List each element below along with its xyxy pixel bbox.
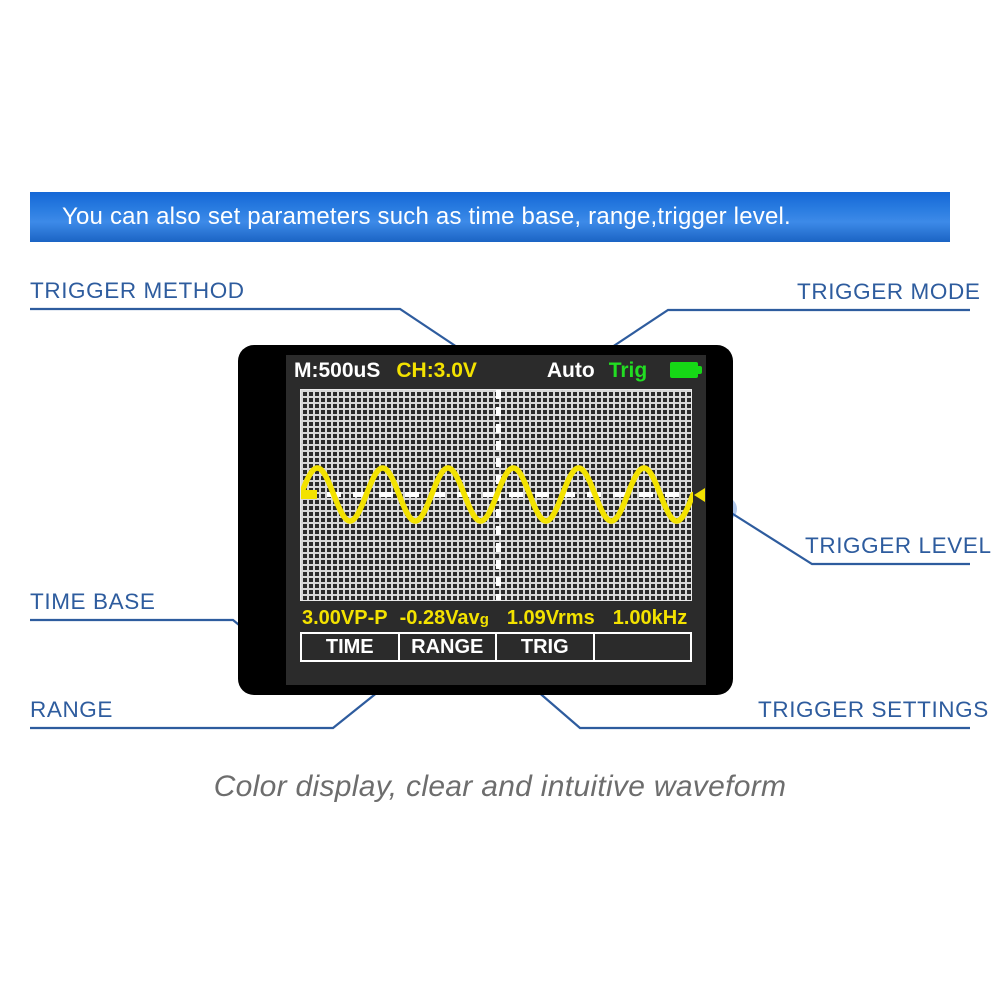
measurement-vavg-value: -0.28Vav [400,607,480,629]
measurement-frequency: 1.00kHz [613,607,688,630]
callout-label-trigger-mode: TRIGGER MODE [797,281,980,304]
graticule [300,389,692,601]
status-channel-range[interactable]: CH:3.0V [396,359,477,383]
menu-item-trig[interactable]: TRIG [497,634,595,660]
measurement-row: 3.00VP-P -0.28Vavg 1.09Vrms 1.00kHz [300,605,692,631]
status-trigger-mode[interactable]: Trig [609,359,648,383]
trigger-level-marker-icon[interactable] [694,488,705,502]
callout-label-trigger-level: TRIGGER LEVEL [805,535,992,558]
measurement-vavg: -0.28Vavg [400,607,489,630]
menu-item-range[interactable]: RANGE [400,634,498,660]
page-root: You can also set parameters such as time… [0,0,1000,1000]
menu-item-time[interactable]: TIME [300,634,400,660]
measurement-vavg-sub: g [480,611,489,628]
oscilloscope-screen: M:500uS CH:3.0V Auto Trig [286,355,706,685]
measurement-vpp: 3.00VP-P [302,607,388,630]
menu-item-blank[interactable] [595,634,693,660]
callout-label-trigger-method: TRIGGER METHOD [30,280,245,303]
status-time-base[interactable]: M:500uS [294,359,380,383]
status-bar: M:500uS CH:3.0V Auto Trig [286,355,706,387]
callout-label-range: RANGE [30,699,113,722]
channel-ground-marker[interactable] [301,490,317,499]
oscilloscope-device: M:500uS CH:3.0V Auto Trig [238,345,733,695]
caption: Color display, clear and intuitive wavef… [0,770,1000,804]
status-trigger-method[interactable]: Auto [547,359,595,383]
softkey-menu: TIME RANGE TRIG [300,632,692,662]
callout-label-trigger-settings: TRIGGER SETTINGS [758,699,989,722]
callout-label-time-base: TIME BASE [30,591,155,614]
banner-text: You can also set parameters such as time… [30,203,791,231]
measurement-vrms: 1.09Vrms [507,607,595,630]
waveform-trace [301,390,693,602]
banner: You can also set parameters such as time… [30,192,950,242]
battery-icon [670,362,698,378]
